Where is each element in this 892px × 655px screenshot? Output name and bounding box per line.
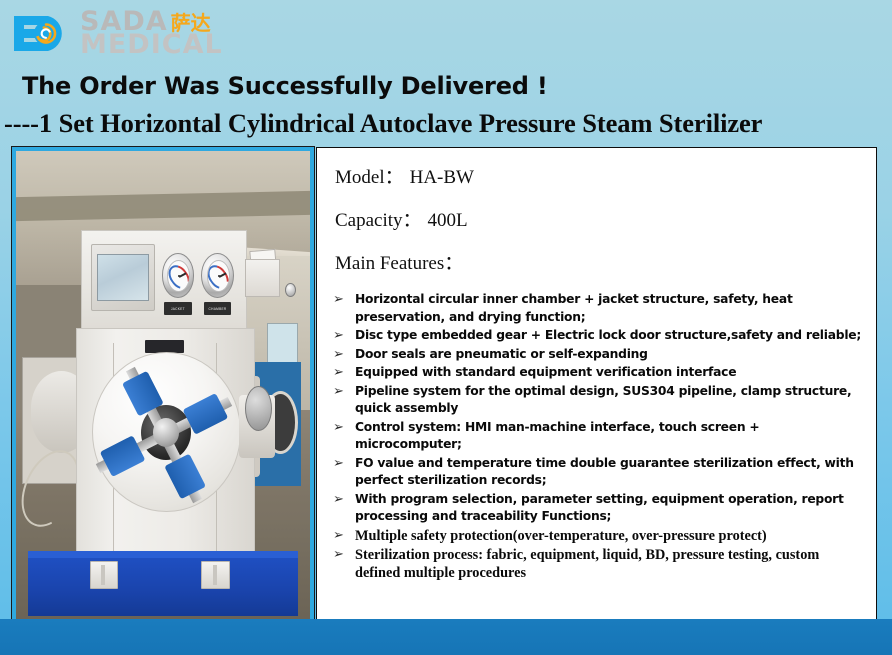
feature-item: ➢Sterilization process: fabric, equipmen…	[333, 546, 864, 582]
capacity-line: Capacity：400L	[335, 205, 864, 232]
pressure-gauge-jacket	[162, 253, 195, 298]
feature-item: ➢Multiple safety protection(over-tempera…	[333, 527, 864, 545]
foot-bolt	[101, 565, 105, 585]
feature-text: Multiple safety protection(over-temperat…	[355, 527, 864, 545]
logo-brand-bottom: MEDICAL	[80, 33, 223, 58]
product-photo-panel: JACKET CHAMBER	[12, 147, 314, 634]
arrow-bullet-icon: ➢	[333, 327, 355, 345]
pressure-gauge-chamber	[201, 253, 234, 298]
foot-bolt	[213, 565, 217, 585]
sd-monogram-icon	[10, 8, 72, 60]
machine-mounting-foot	[90, 561, 118, 589]
brand-logo: SADA 萨达 MEDICAL	[10, 6, 223, 62]
arrow-bullet-icon: ➢	[333, 527, 355, 545]
feature-text: Horizontal circular inner chamber + jack…	[355, 291, 864, 326]
gauge-hub	[178, 275, 180, 278]
feature-text: Sterilization process: fabric, equipment…	[355, 546, 864, 582]
hmi-touchscreen	[97, 254, 149, 302]
headline-primary: The Order Was Successfully Delivered !	[22, 72, 548, 100]
model-value: HA-BW	[410, 167, 474, 188]
photo-side-handwheel	[245, 386, 272, 431]
specification-panel: Model：HA-BW Capacity：400L Main Features：…	[316, 147, 877, 634]
machine-mounting-foot	[201, 561, 229, 589]
feature-item: ➢Horizontal circular inner chamber + jac…	[333, 291, 864, 326]
feature-text: With program selection, parameter settin…	[355, 491, 864, 526]
autoclave-photo: JACKET CHAMBER	[16, 151, 310, 630]
feature-item: ➢Equipped with standard equipment verifi…	[333, 364, 864, 382]
feature-text: Equipped with standard equipment verific…	[355, 364, 864, 382]
feature-text: Control system: HMI man-machine interfac…	[355, 419, 864, 454]
arrow-bullet-icon: ➢	[333, 419, 355, 437]
features-heading: Main Features：	[335, 248, 864, 275]
footer-band	[0, 619, 892, 655]
gauge-label-chamber: CHAMBER	[204, 302, 232, 314]
headline-secondary: ----1 Set Horizontal Cylindrical Autocla…	[4, 108, 762, 139]
feature-item: ➢Control system: HMI man-machine interfa…	[333, 419, 864, 454]
model-line: Model：HA-BW	[335, 162, 864, 189]
arrow-bullet-icon: ➢	[333, 383, 355, 401]
machine-nameplate	[145, 340, 183, 352]
feature-item: ➢FO value and temperature time double gu…	[333, 455, 864, 490]
features-list: ➢Horizontal circular inner chamber + jac…	[333, 291, 864, 582]
gauge-label-jacket: JACKET	[164, 302, 192, 314]
arrow-bullet-icon: ➢	[333, 546, 355, 564]
gauge-face	[207, 260, 230, 291]
feature-text: Disc type embedded gear + Electric lock …	[355, 327, 864, 345]
gauge-hub	[218, 275, 220, 278]
model-label: Model：	[335, 167, 404, 188]
arrow-bullet-icon: ➢	[333, 346, 355, 364]
feature-text: FO value and temperature time double gua…	[355, 455, 864, 490]
feature-item: ➢Disc type embedded gear + Electric lock…	[333, 327, 864, 345]
feature-item: ➢With program selection, parameter setti…	[333, 491, 864, 526]
slide-canvas: SADA 萨达 MEDICAL The Order Was Successful…	[0, 0, 892, 655]
record-printer	[245, 259, 279, 297]
arrow-bullet-icon: ➢	[333, 291, 355, 309]
door-center-hub	[153, 418, 179, 447]
feature-text: Door seals are pneumatic or self-expandi…	[355, 346, 864, 364]
capacity-value: 400L	[428, 210, 468, 231]
blue-shipping-pallet	[28, 558, 298, 615]
arrow-bullet-icon: ➢	[333, 491, 355, 509]
arrow-bullet-icon: ➢	[333, 455, 355, 473]
arrow-bullet-icon: ➢	[333, 364, 355, 382]
feature-text: Pipeline system for the optimal design, …	[355, 383, 864, 418]
feature-item: ➢Door seals are pneumatic or self-expand…	[333, 346, 864, 364]
gauge-face	[167, 260, 190, 291]
feature-item: ➢Pipeline system for the optimal design,…	[333, 383, 864, 418]
capacity-label: Capacity：	[335, 210, 422, 231]
